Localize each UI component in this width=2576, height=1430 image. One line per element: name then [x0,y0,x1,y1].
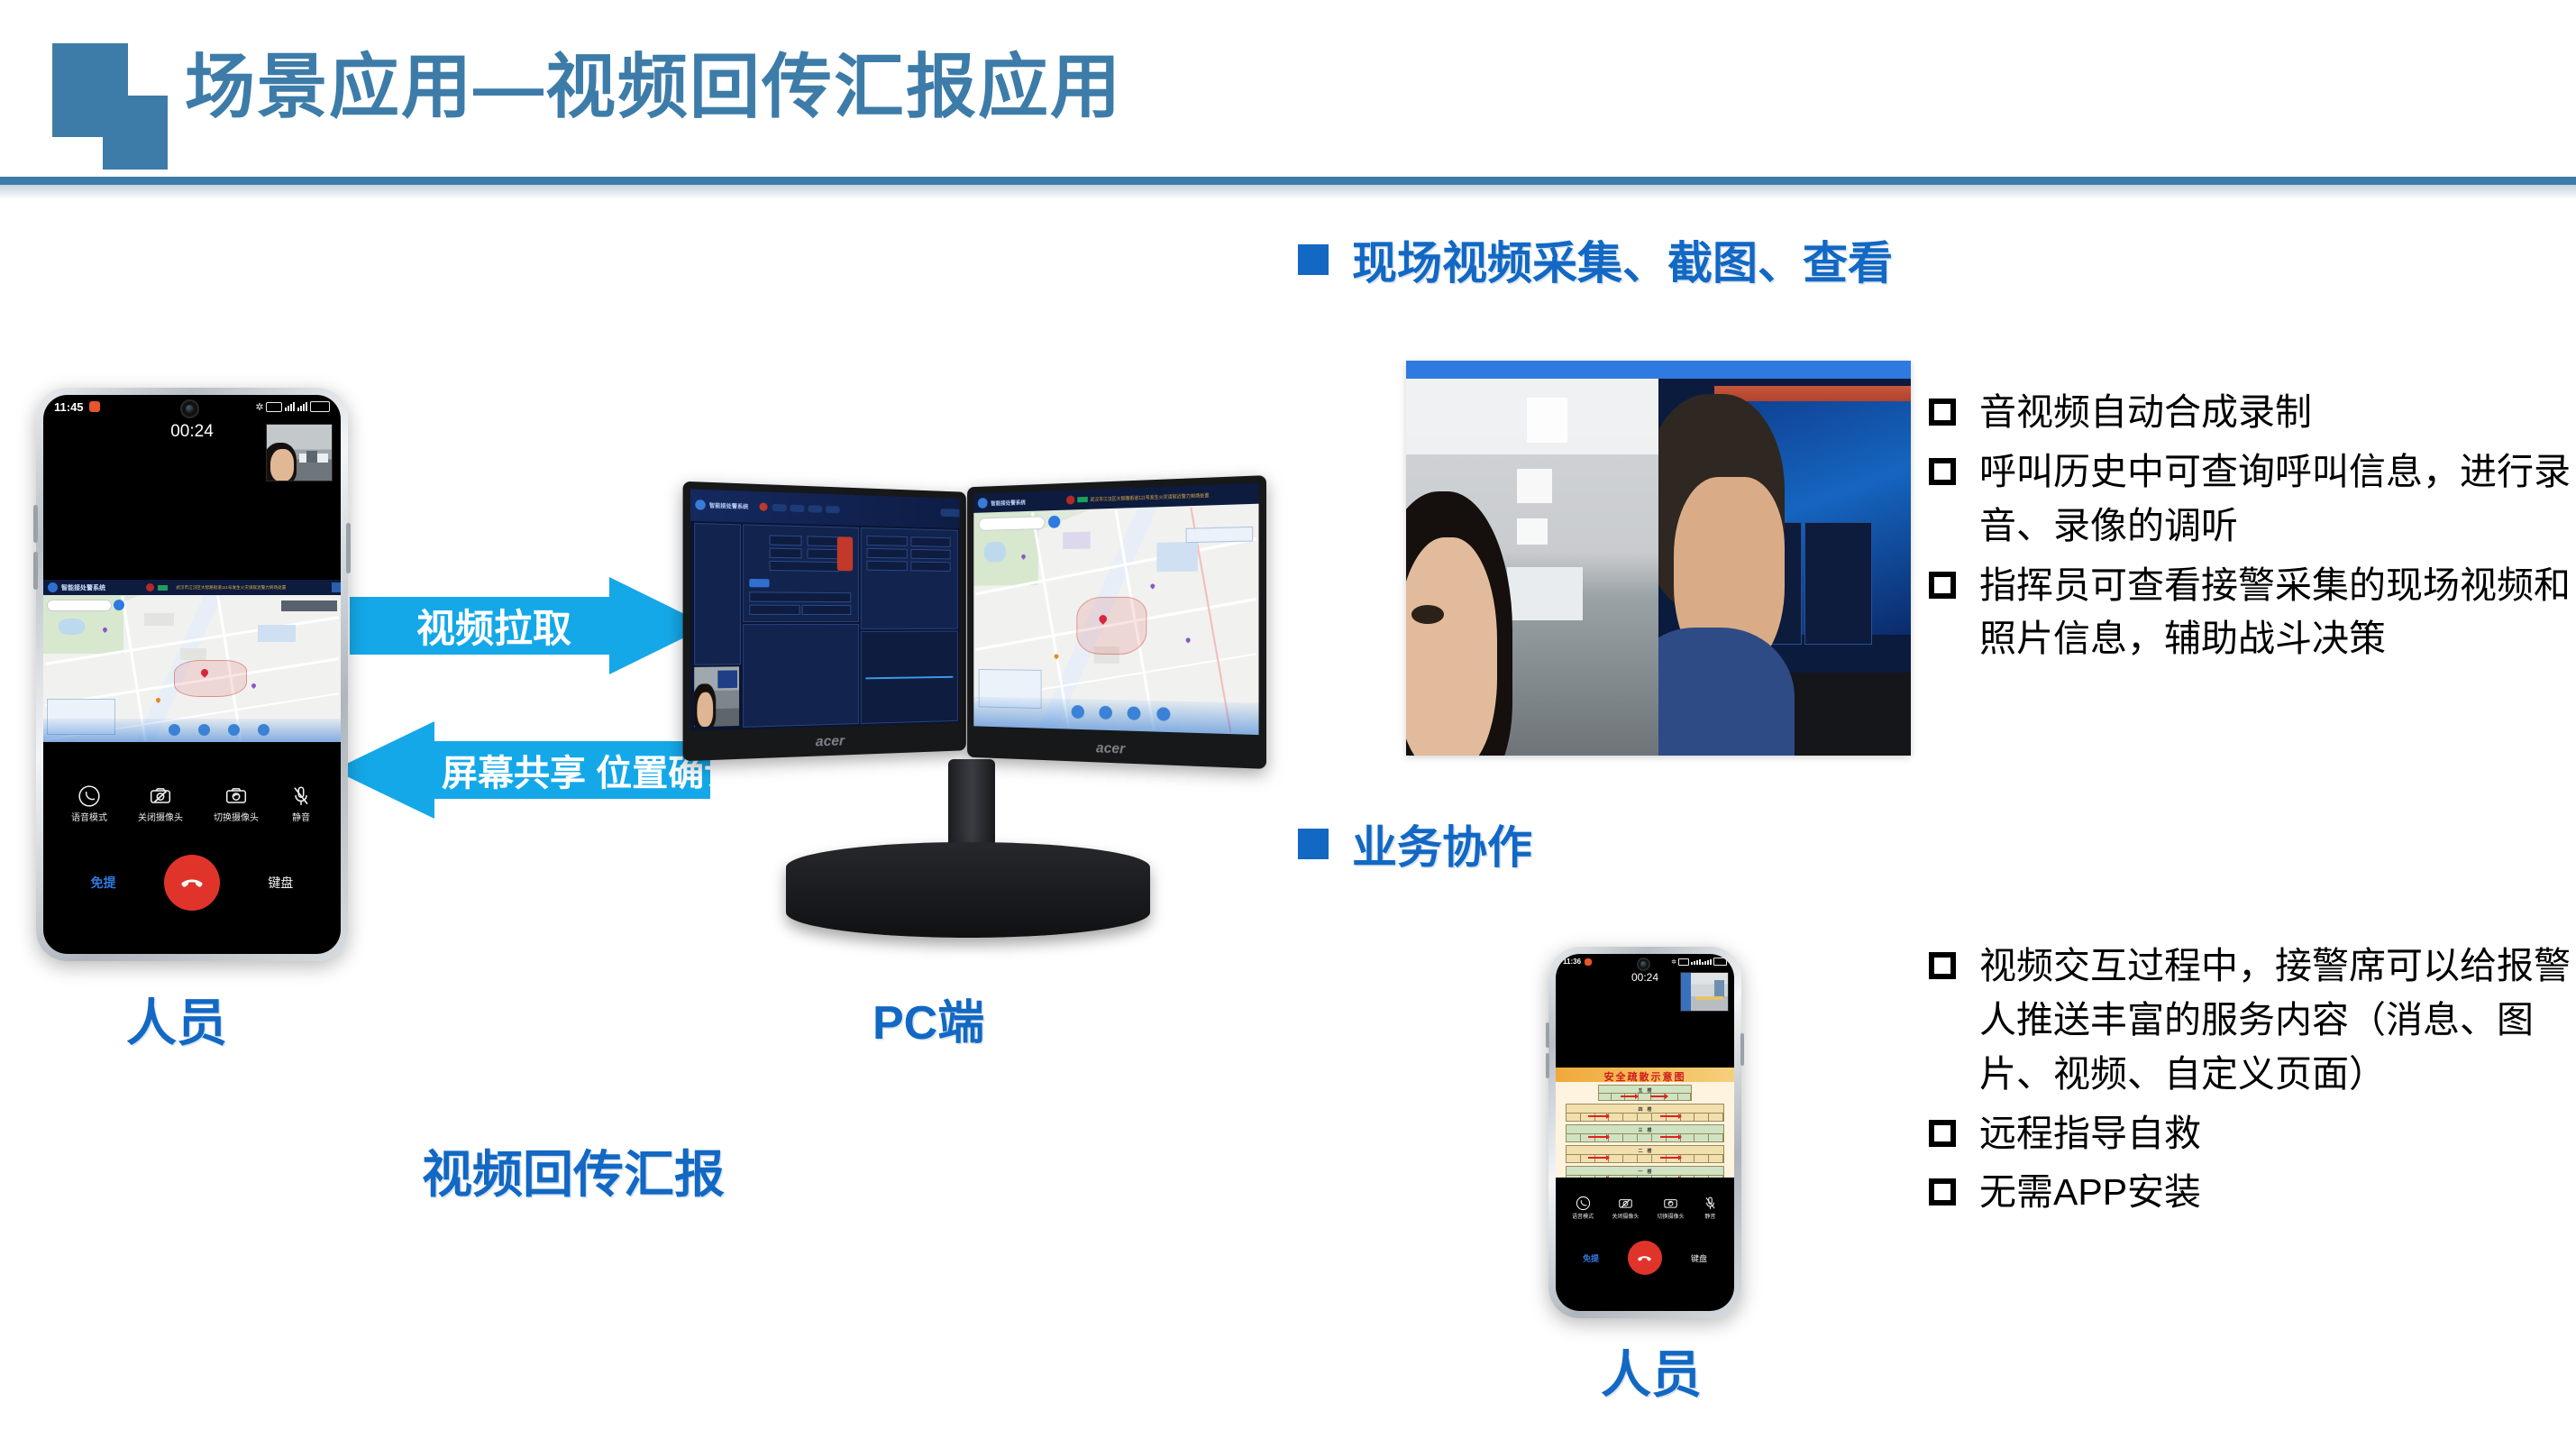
photo-operator-shirt [1658,628,1795,756]
control-label: 切换摄像头 [1658,1212,1685,1220]
floor-label: 二 楼 [1567,1148,1723,1154]
phone-mockup-left: 11:45 ✲ 00:24 [36,388,348,961]
bullet-square-icon [1298,829,1329,859]
self-view-pip[interactable] [1680,972,1729,1012]
map-view[interactable] [43,595,341,742]
ticker-text: 武汉市江汉区大智路街道111号发生火灾请就近警力到场处置 [1090,492,1209,503]
control-label: 切换摄像头 [214,810,259,823]
front-camera-icon [1637,958,1650,971]
map-poi-icon[interactable] [1150,582,1156,589]
caption-pc: PC端 [872,985,984,1052]
ticker-tag-icon [1077,497,1088,502]
list-item-text: 远程指导自救 [1979,1107,2201,1161]
checkbox-square-icon [1929,399,1956,426]
map-bottom-wave [973,697,1258,735]
power-button[interactable] [1740,1033,1744,1066]
map-quick-action-button[interactable] [258,724,269,736]
monitor-stand-neck [948,759,995,855]
map-view[interactable] [973,504,1258,735]
map-quick-action-button[interactable] [228,724,240,736]
console-toolbar-chip[interactable] [790,504,805,512]
waveform-line [865,676,954,680]
call-controls-row: 语音模式 关闭摄像头 切换摄像头 [1556,1196,1734,1220]
monitor-brand-logo: acer [816,733,845,750]
section-heading-label: 业务协作 [1352,811,1532,876]
logo-mark [52,43,168,170]
keypad-button[interactable]: 键盘 [268,874,293,892]
console-header: 智能接处警系统 [690,489,960,527]
control-label: 语音模式 [1572,1212,1594,1220]
photo-caller-pane [1406,379,1658,756]
checkbox-square-icon [1929,1120,1956,1147]
list-item: 无需APP安装 [1929,1166,2576,1220]
map-console-ui: 智能接处警系统 武汉市江汉区大智路街道111号发生火灾请就近警力到场处置 [973,483,1258,735]
call-controls-row: 语音模式 关闭摄像头 [43,784,341,823]
section-heading-video-capture: 现场视频采集、截图、查看 [1298,227,1893,292]
photo-operator-pane [1658,379,1911,756]
speaker-button[interactable]: 免提 [91,874,116,892]
app-logo-icon [978,498,988,509]
monitor-left-screen[interactable]: 智能接处警系统 [690,489,960,730]
bullet-square-icon [1298,244,1329,275]
arrow-label: 视频拉取 [350,577,708,674]
monitor-brand-logo: acer [1096,740,1125,757]
list-item-text: 指挥员可查看接警采集的现场视频和照片信息，辅助战斗决策 [1979,559,2576,667]
hangup-button[interactable] [1628,1241,1662,1275]
floor-row: 三 楼 [1566,1124,1724,1142]
control-label: 关闭摄像头 [138,810,183,823]
camera-switch-icon [224,784,248,808]
video-call-screenshot [1406,361,1911,756]
bullet-list-collaboration: 视频交互过程中，接警席可以给报警人推送丰富的服务内容（消息、图片、视频、自定义页… [1929,940,2576,1225]
list-item: 呼叫历史中可查询呼叫信息，进行录音、录像的调听 [1929,445,2576,554]
floor-row: 二 楼 [1566,1145,1724,1163]
status-icons: ✲ [255,401,330,413]
console-toolbar-chip[interactable] [772,504,787,512]
self-view-pip[interactable] [266,424,333,481]
control-camera-off[interactable]: 关闭摄像头 [1612,1196,1639,1220]
checkbox-square-icon [1929,572,1956,599]
console-audio-waveform [861,631,958,724]
map-block [1156,542,1198,572]
map-quick-action-button[interactable] [169,724,180,736]
call-bottom-row: 免提 键盘 [1556,1241,1734,1275]
console-field[interactable] [749,605,799,615]
console-field[interactable] [866,561,907,572]
console-field[interactable] [808,548,839,559]
console-app-name: 智能接处警系统 [991,498,1026,507]
pc-dual-monitors: 智能接处警系统 [685,449,1271,954]
console-emergency-button[interactable] [837,536,853,571]
console-field[interactable] [910,562,950,572]
list-item: 远程指导自救 [1929,1107,2576,1161]
control-label: 关闭摄像头 [1612,1212,1639,1220]
control-camera-off[interactable]: 关闭摄像头 [138,784,183,823]
control-camera-switch[interactable]: 切换摄像头 [1658,1196,1685,1220]
notification-badge-icon [1585,958,1592,966]
monitor-stand-base [786,842,1150,938]
signal-1-icon [285,402,295,411]
monitor-right-screen[interactable]: 智能接处警系统 武汉市江汉区大智路街道111号发生火灾请就近警力到场处置 [973,483,1258,735]
floor-row: 一 楼 [1566,1166,1724,1178]
map-water [59,619,86,635]
section-heading-label: 现场视频采集、截图、查看 [1352,227,1893,292]
battery-small-icon [1678,958,1689,966]
console-field[interactable] [866,536,907,546]
console-field[interactable] [770,561,839,572]
list-item-text: 呼叫历史中可查询呼叫信息，进行录音、录像的调听 [1979,445,2576,554]
map-block [144,613,174,627]
map-search-input[interactable] [979,516,1046,531]
volume-up-button[interactable] [33,505,38,543]
microphone-mute-icon [1703,1196,1718,1211]
status-time: 11:45 [54,400,84,414]
console-left-panel[interactable] [694,523,741,665]
keypad-button[interactable]: 键盘 [1691,1252,1707,1264]
map-incident-zone [174,660,247,697]
console-alarm-icon [759,503,767,511]
caption-person-left: 人员 [126,983,227,1056]
ticker-tag-icon [158,585,168,591]
microphone-mute-icon [289,784,313,808]
floor-label: 一 楼 [1567,1169,1723,1175]
battery-small-icon [266,402,282,412]
camera-off-icon [149,784,172,808]
map-search-input[interactable] [47,600,112,611]
console-logo-icon [695,500,706,510]
alert-ticker: 武汉市江汉区大智路街道111号发生火灾请就近警力到场处置 [105,583,332,591]
console-options-panel[interactable] [743,624,859,728]
photo-face [1406,537,1497,756]
map-poi-icon[interactable] [155,697,161,703]
photo-title-bar [1406,361,1911,379]
hangup-button[interactable] [164,855,220,911]
floor-row: 四 楼 [1566,1104,1724,1122]
call-bottom-row: 免提 键盘 [43,855,341,911]
shared-app-header: 智能接处警系统 武汉市江汉区大智路街道111号发生火灾请就近警力到场处置 [43,580,341,595]
floor-label: 五 楼 [1599,1087,1692,1094]
arrow-label: 屏幕共享 位置确认 [333,721,710,819]
map-bottom-wave [43,719,341,742]
header-divider [0,177,2576,185]
app-logo-icon [48,582,58,592]
console-form-panel[interactable] [743,524,859,622]
control-label: 语音模式 [71,810,107,823]
floor-row: 五 楼 [1598,1085,1693,1101]
console-field[interactable] [866,548,907,559]
list-item-text: 视频交互过程中，接警席可以给报警人推送丰富的服务内容（消息、图片、视频、自定义页… [1979,940,2576,1102]
console-field[interactable] [770,535,802,545]
logo-square-lower [103,96,168,170]
console-field[interactable] [910,549,950,560]
status-icons: ✲ [1671,958,1727,966]
phone-screen: 11:45 ✲ 00:24 [43,395,341,954]
speaker-button[interactable]: 免提 [1583,1252,1599,1264]
camera-switch-icon [1663,1196,1678,1211]
front-camera-icon [180,399,199,418]
control-mute[interactable]: 静音 [289,784,313,823]
list-item-text: 无需APP安装 [1979,1166,2201,1220]
header-divider-shadow [0,185,2576,199]
battery-icon [310,401,330,412]
hangup-icon [1636,1250,1653,1267]
bluetooth-icon: ✲ [1671,958,1676,966]
map-quick-action-button[interactable] [1071,705,1083,719]
photo-eye [1411,605,1444,624]
checkbox-square-icon [1929,952,1956,979]
evacuation-diagram-title: 安全疏散示意图 [1556,1069,1734,1084]
phone-handset-icon [78,784,101,808]
bluetooth-icon: ✲ [255,401,263,413]
arrow-screen-share: 屏幕共享 位置确认 [333,721,710,819]
map-quick-action-button[interactable] [198,724,210,736]
console-info-panel[interactable] [861,527,958,629]
list-item-text: 音视频自动合成录制 [1979,386,2312,440]
map-quick-action-button[interactable] [1099,706,1112,720]
caption-person-right: 人员 [1601,1334,1702,1407]
slide-root: 场景应用—视频回传汇报应用 现场视频采集、截图、查看 业务协作 音视频自动合成录… [0,0,2576,1430]
page-title: 场景应用—视频回传汇报应用 [185,31,1122,132]
map-search-button[interactable] [1048,516,1060,528]
alert-ticker: 武汉市江汉区大智路街道111号发生火灾请就近警力到场处置 [1066,490,1210,505]
console-field[interactable] [749,591,851,602]
map-poi-icon[interactable] [1054,654,1060,660]
battery-icon [1713,958,1727,966]
console-app-name: 智能接处警系统 [709,501,748,511]
caption-flow: 视频回传汇报 [422,1134,725,1207]
map-poi-icon[interactable] [1185,637,1192,643]
app-menu-button[interactable] [332,582,341,592]
volume-down-button[interactable] [33,552,38,590]
volume-down-button[interactable] [1546,1053,1549,1078]
map-block [258,625,297,643]
ticker-text: 武汉市江汉区大智路街道111号发生火灾请就近警力到场处置 [176,584,286,590]
map-incident-zone [1076,597,1146,655]
floor-label: 四 楼 [1567,1106,1723,1113]
control-mute[interactable]: 静音 [1703,1196,1718,1220]
control-voice-mode[interactable]: 语音模式 [1572,1196,1594,1220]
alarm-icon [1066,495,1075,504]
checkbox-square-icon [1929,1178,1956,1205]
phone-handset-icon [1576,1196,1591,1211]
checkbox-square-icon [1929,458,1956,485]
notification-badge-icon [89,401,100,412]
section-heading-collaboration: 业务协作 [1298,811,1532,876]
list-item: 视频交互过程中，接警席可以给报警人推送丰富的服务内容（消息、图片、视频、自定义页… [1929,940,2576,1102]
pushed-evacuation-diagram[interactable]: 安全疏散示意图 五 楼 四 楼 三 楼 [1556,1068,1734,1178]
console-toolbar-chip[interactable] [826,506,840,513]
map-layer-toolbar[interactable] [1186,527,1254,543]
hangup-icon [178,869,206,896]
signal-2-icon [297,402,307,411]
map-poi-icon[interactable] [251,683,257,689]
shared-app-name: 智能接处警系统 [61,583,105,592]
signal-1-icon [1691,959,1701,965]
map-block [1063,531,1091,549]
map-block [180,648,207,660]
signal-2-icon [1702,959,1712,965]
console-field[interactable] [770,548,802,559]
console-field[interactable] [910,536,950,547]
camera-off-icon [1618,1196,1633,1211]
list-item: 音视频自动合成录制 [1929,386,2576,440]
dispatch-console-ui: 智能接处警系统 [690,489,960,730]
map-toolbar[interactable] [281,600,337,611]
console-field[interactable] [802,605,852,615]
monitor-left: 智能接处警系统 [683,481,966,761]
monitor-right: 智能接处警系统 武汉市江汉区大智路街道111号发生火灾请就近警力到场处置 [967,475,1266,769]
list-item: 指挥员可查看接警采集的现场视频和照片信息，辅助战斗决策 [1929,559,2576,667]
alarm-icon [146,583,154,591]
map-quick-action-button[interactable] [1156,707,1170,721]
control-voice-mode[interactable]: 语音模式 [71,784,107,823]
control-label: 静音 [292,810,310,823]
volume-up-button[interactable] [1546,1022,1549,1048]
shared-screen-region[interactable]: 智能接处警系统 武汉市江汉区大智路街道111号发生火灾请就近警力到场处置 [43,580,341,742]
control-label: 静音 [1704,1212,1715,1220]
photo-monitor [1804,522,1872,645]
console-tab[interactable] [749,579,769,587]
map-search-button[interactable] [114,600,124,610]
bullet-list-video-capture: 音视频自动合成录制 呼叫历史中可查询呼叫信息，进行录音、录像的调听 指挥员可查看… [1929,386,2576,672]
phone-mockup-right: 11:36 ✲ 00:24 安全疏散示意图 [1548,947,1741,1318]
console-field[interactable] [808,536,839,546]
status-time: 11:36 [1563,958,1581,966]
phone-screen: 11:36 ✲ 00:24 安全疏散示意图 [1556,954,1734,1311]
control-camera-switch[interactable]: 切换摄像头 [214,784,259,823]
console-video-tile[interactable] [694,666,739,727]
floor-label: 三 楼 [1567,1127,1723,1133]
console-toolbar-chip[interactable] [808,505,823,513]
arrow-video-pull: 视频拉取 [350,577,708,674]
power-button[interactable] [346,523,351,573]
console-clock-chip [941,509,960,517]
map-water [984,542,1006,562]
